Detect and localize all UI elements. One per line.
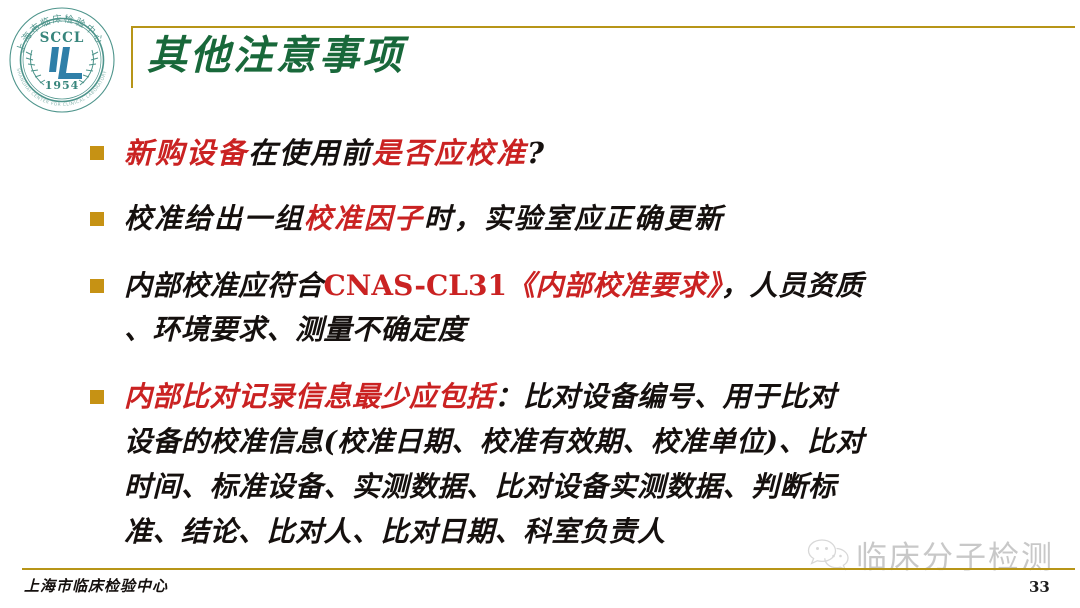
bullet-item: 新购设备在使用前是否应校准?	[88, 133, 1048, 173]
bullet-item: 校准给出一组校准因子时，实验室应正确更新	[88, 199, 1048, 239]
page-number: 33	[1029, 578, 1050, 596]
bullet-span: 是否应校准	[372, 136, 527, 170]
svg-text:1954: 1954	[45, 79, 80, 92]
bullet-span: 时间、标准设备、实测数据、比对设备实测数据、判断标	[124, 470, 837, 503]
wechat-bubbles-icon	[806, 536, 850, 572]
bullet-item: 内部比对记录信息最少应包括：比对设备编号、用于比对设备的校准信息(校准日期、校准…	[88, 374, 1048, 554]
header-vertical-rule	[131, 26, 133, 88]
bullet-span: 校准因子	[304, 202, 424, 235]
sccl-circular-seal-logo: 上海市临床检验中心 SHANGHAI CENTER FOR CLINICAL L…	[8, 6, 116, 114]
slide-canvas: 上海市临床检验中心 SHANGHAI CENTER FOR CLINICAL L…	[0, 0, 1080, 608]
slide-body: 新购设备在使用前是否应校准? 校准给出一组校准因子时，实验室应正确更新 内部校准…	[88, 131, 1048, 554]
bullet-text: 内部校准应符合CNAS-CL31《内部校准要求》，人员资质、环境要求、测量不确定…	[124, 264, 1048, 352]
gold-square-bullet-icon	[90, 279, 104, 293]
bullet-span: 内部比对记录信息最少应包括	[124, 380, 495, 413]
bullet-item: 内部校准应符合CNAS-CL31《内部校准要求》，人员资质、环境要求、测量不确定…	[88, 264, 1048, 352]
bullet-span: 、环境要求、测量不确定度	[124, 313, 466, 346]
gold-square-bullet-icon	[90, 146, 104, 160]
gold-square-bullet-icon	[90, 390, 104, 404]
page-title: 其他注意事项	[147, 27, 405, 85]
bullet-span: 在使用前	[248, 136, 372, 170]
footer-organization: 上海市临床检验中心	[24, 575, 168, 596]
bullet-span: 校准给出一组	[124, 202, 304, 235]
bullet-span: 时，实验室应正确更新	[424, 202, 724, 235]
bullet-span: 《内部校准要求》	[507, 269, 721, 302]
footer-rule	[22, 568, 1075, 570]
bullet-span: 设备的校准信息(校准日期、校准有效期、校准单位)、比对	[124, 425, 864, 458]
bullet-span: ，人员资质	[721, 269, 864, 302]
bullet-text: 新购设备在使用前是否应校准?	[124, 133, 1048, 173]
bullet-text: 校准给出一组校准因子时，实验室应正确更新	[124, 199, 1048, 239]
bullet-span: 准、结论、比对人、比对日期、科室负责人	[124, 515, 666, 548]
bullet-span: ?	[527, 136, 546, 170]
bullet-span: ：比对设备编号、用于比对	[495, 380, 837, 413]
svg-text:SCCL: SCCL	[40, 30, 85, 46]
bullet-span: 新购设备	[124, 136, 248, 170]
gold-square-bullet-icon	[90, 212, 104, 226]
bullet-span-standard-code: CNAS-CL31	[324, 269, 507, 302]
wechat-watermark: 临床分子检测	[806, 531, 1072, 577]
slide-header: 上海市临床检验中心 SHANGHAI CENTER FOR CLINICAL L…	[0, 0, 1080, 118]
bullet-span: 内部校准应符合	[124, 269, 324, 302]
bullet-text: 内部比对记录信息最少应包括：比对设备编号、用于比对设备的校准信息(校准日期、校准…	[124, 374, 1048, 554]
